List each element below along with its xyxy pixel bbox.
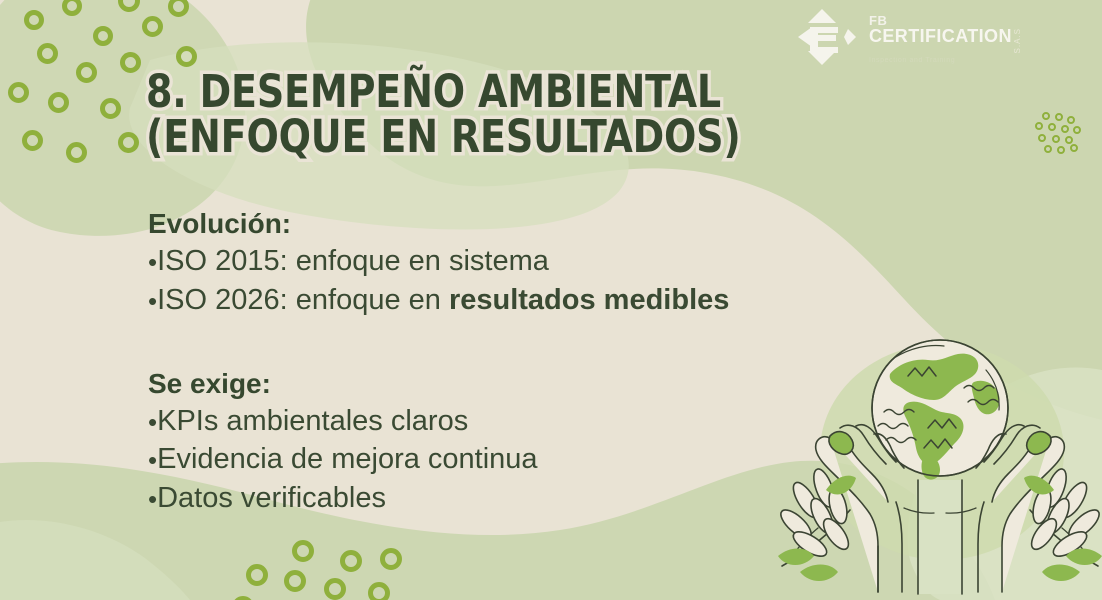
bullet-marker: • xyxy=(148,247,157,277)
ring-dot xyxy=(232,596,254,600)
list-item-text: Evidencia de mejora continua xyxy=(157,443,537,475)
ring-dot xyxy=(1035,122,1043,130)
ring-dot xyxy=(1070,144,1078,152)
list-item: •ISO 2026: enfoque en resultados medible… xyxy=(148,281,908,320)
ring-dot xyxy=(1067,116,1075,124)
bullet-marker: • xyxy=(148,286,157,316)
list-item-text: Datos verificables xyxy=(157,482,386,514)
ring-dot xyxy=(1048,123,1056,131)
ring-dot xyxy=(8,82,29,103)
ring-dot xyxy=(76,62,97,83)
ring-dot xyxy=(1061,125,1069,133)
bullet-marker: • xyxy=(148,407,157,437)
ring-cluster-right xyxy=(1034,112,1086,162)
ring-dot xyxy=(292,540,314,562)
ring-cluster-bottom xyxy=(232,540,432,600)
ring-dot xyxy=(118,132,139,153)
ring-dot xyxy=(24,10,44,30)
ring-dot xyxy=(22,130,43,151)
title-line-1: 8. DESEMPEÑO AMBIENTAL xyxy=(146,70,785,115)
ring-dot xyxy=(142,16,163,37)
title-line-2: (ENFOQUE EN RESULTADOS) xyxy=(146,115,785,160)
ring-dot xyxy=(284,570,306,592)
logo-wordmark: FB CERTIFICATION S.A.S Inspection and Tr… xyxy=(869,10,1022,63)
ring-dot xyxy=(340,550,362,572)
ring-dot xyxy=(1038,134,1046,142)
slide-canvas: FB CERTIFICATION S.A.S Inspection and Tr… xyxy=(0,0,1102,600)
list-item-text: ISO 2015: enfoque en sistema xyxy=(157,245,549,277)
ring-dot xyxy=(1065,136,1073,144)
fb-arrows-mark-icon xyxy=(798,7,860,67)
hands-holding-globe-illustration xyxy=(778,330,1102,600)
page-title: 8. DESEMPEÑO AMBIENTAL (ENFOQUE EN RESUL… xyxy=(146,70,785,159)
ring-dot xyxy=(62,0,82,16)
ring-dot xyxy=(120,52,141,73)
ring-dot xyxy=(93,26,113,46)
ring-dot xyxy=(37,43,58,64)
ring-dot xyxy=(380,548,402,570)
ring-dot xyxy=(1052,135,1060,143)
logo-tagline: Inspection and Training xyxy=(869,57,1022,64)
logo-suffix: S.A.S xyxy=(1014,28,1022,53)
ring-dot xyxy=(368,582,390,600)
blob-bottom-left-small xyxy=(0,520,190,600)
ring-dot xyxy=(324,578,346,600)
ring-dot xyxy=(66,142,87,163)
ring-dot xyxy=(1042,112,1050,120)
ring-dot xyxy=(246,564,268,586)
olive-branch-left xyxy=(778,466,856,581)
ring-dot xyxy=(1073,126,1081,134)
bullet-marker: • xyxy=(148,446,157,476)
fb-certification-logo[interactable]: FB CERTIFICATION S.A.S Inspection and Tr… xyxy=(798,6,1048,68)
list-item: •ISO 2015: enfoque en sistema xyxy=(148,242,908,281)
bullet-marker: • xyxy=(148,484,157,514)
ring-dot xyxy=(48,92,69,113)
list-item-text: ISO 2026: enfoque en xyxy=(157,284,449,316)
list-item-text: KPIs ambientales claros xyxy=(157,405,468,437)
ring-dot xyxy=(1057,146,1065,154)
ring-dot xyxy=(168,0,189,17)
ring-dot xyxy=(118,0,140,12)
logo-name-line2: CERTIFICATION xyxy=(869,27,1012,45)
section-heading: Evolución: xyxy=(148,206,908,242)
list-item-emphasis: resultados medibles xyxy=(449,284,729,316)
ring-dot xyxy=(1055,113,1063,121)
section-evolucion: Evolución: •ISO 2015: enfoque en sistema… xyxy=(148,206,908,320)
ring-dot xyxy=(1044,145,1052,153)
olive-branch-right xyxy=(1024,466,1102,581)
ring-dot xyxy=(100,98,121,119)
ring-dot xyxy=(176,46,197,67)
